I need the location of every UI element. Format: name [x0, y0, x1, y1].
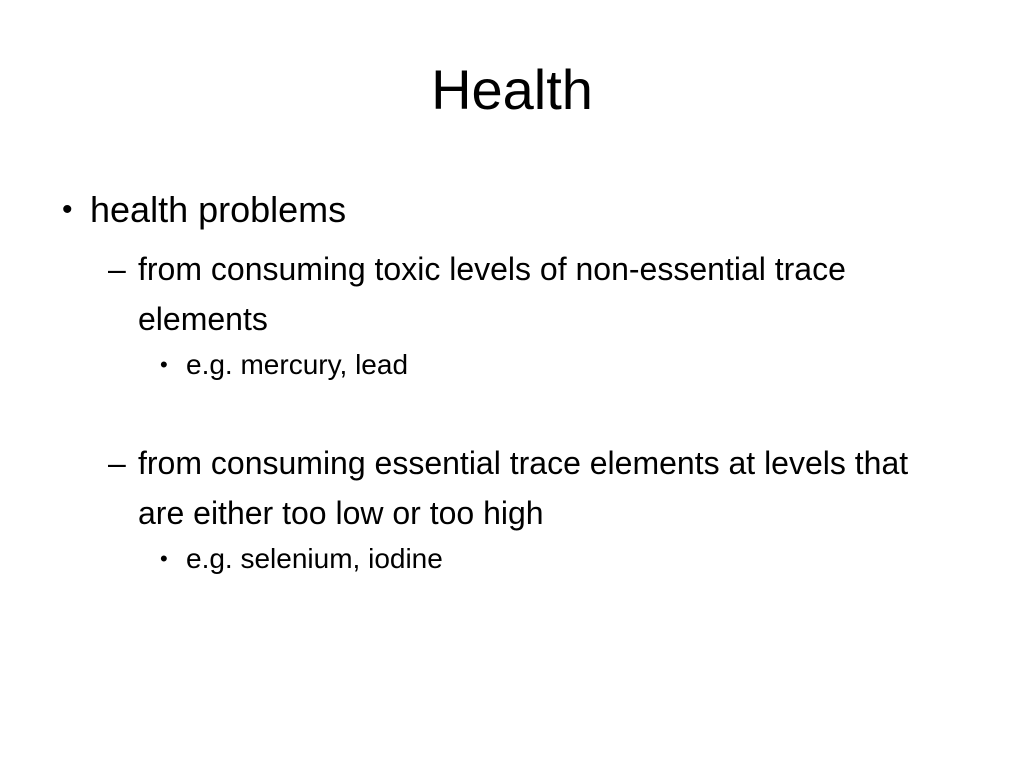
- bullet-text: e.g. selenium, iodine: [186, 538, 946, 580]
- bullet-text: from consuming essential trace elements …: [138, 438, 928, 538]
- bullet-level3-selenium-iodine: • e.g. selenium, iodine: [160, 538, 946, 580]
- bullet-text: from consuming toxic levels of non-essen…: [138, 244, 928, 344]
- bullet-level3-mercury-lead: • e.g. mercury, lead: [160, 344, 946, 386]
- bullet-dot-icon: •: [56, 188, 90, 232]
- bullet-level2-essential-levels: – from consuming essential trace element…: [108, 438, 946, 538]
- page-title: Health: [0, 58, 1024, 122]
- slide: Health • health problems – from consumin…: [0, 0, 1024, 768]
- bullet-level1-health-problems: • health problems: [56, 188, 946, 232]
- blank-line-spacer: [56, 386, 946, 438]
- bullet-text: e.g. mercury, lead: [186, 344, 946, 386]
- bullet-dash-icon: –: [108, 438, 138, 488]
- bullet-dash-icon: –: [108, 244, 138, 294]
- bullet-text: health problems: [90, 188, 946, 232]
- bullet-dot-icon: •: [160, 344, 186, 386]
- slide-body-content: • health problems – from consuming toxic…: [56, 188, 946, 580]
- bullet-level2-toxic-levels: – from consuming toxic levels of non-ess…: [108, 244, 946, 344]
- bullet-dot-icon: •: [160, 538, 186, 580]
